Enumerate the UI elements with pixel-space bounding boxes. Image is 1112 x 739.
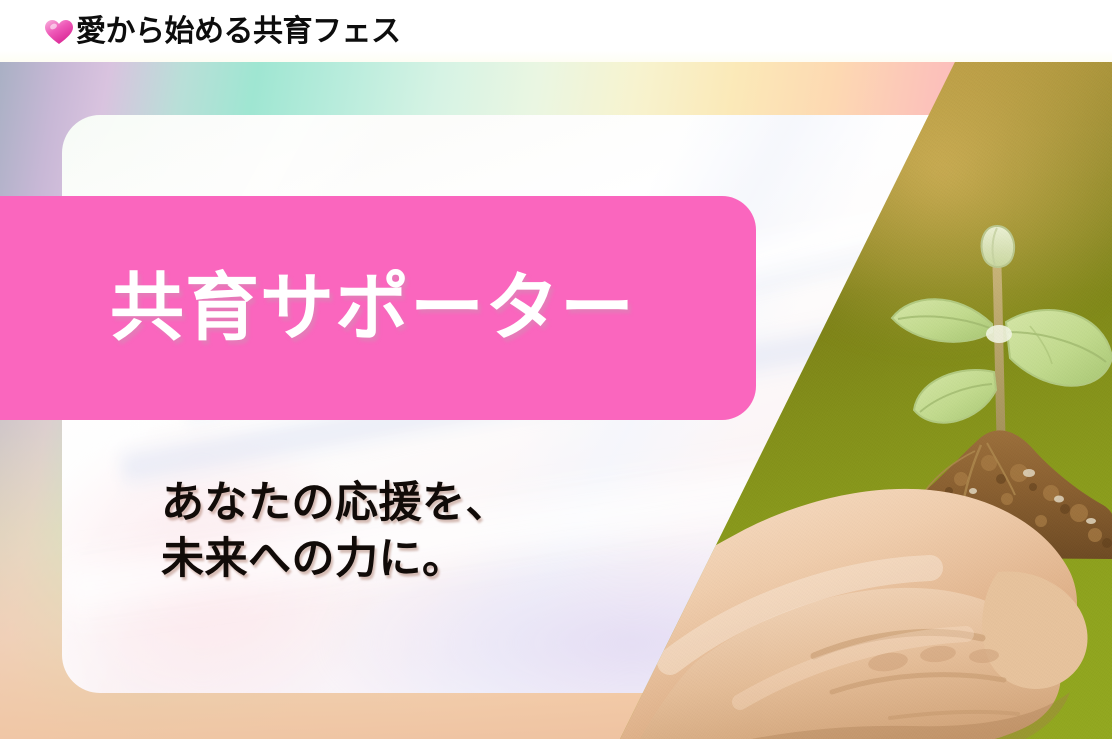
header-title: 愛から始める共育フェス (76, 17, 401, 47)
poster-canvas: 共育サポーター あなたの応援を、 未来への力に。 (0, 0, 1112, 739)
subtitle-block: あなたの応援を、 未来への力に。 (161, 476, 509, 588)
subtitle-line-2: 未来への力に。 (161, 532, 509, 588)
subtitle-line-1: あなたの応援を、 (161, 476, 509, 532)
heart-icon (44, 18, 74, 46)
header-bar: 愛から始める共育フェス (0, 0, 1112, 62)
header-inner: 愛から始める共育フェス (44, 17, 401, 47)
banner-title: 共育サポーター (110, 271, 635, 345)
pink-title-banner: 共育サポーター (0, 196, 756, 420)
